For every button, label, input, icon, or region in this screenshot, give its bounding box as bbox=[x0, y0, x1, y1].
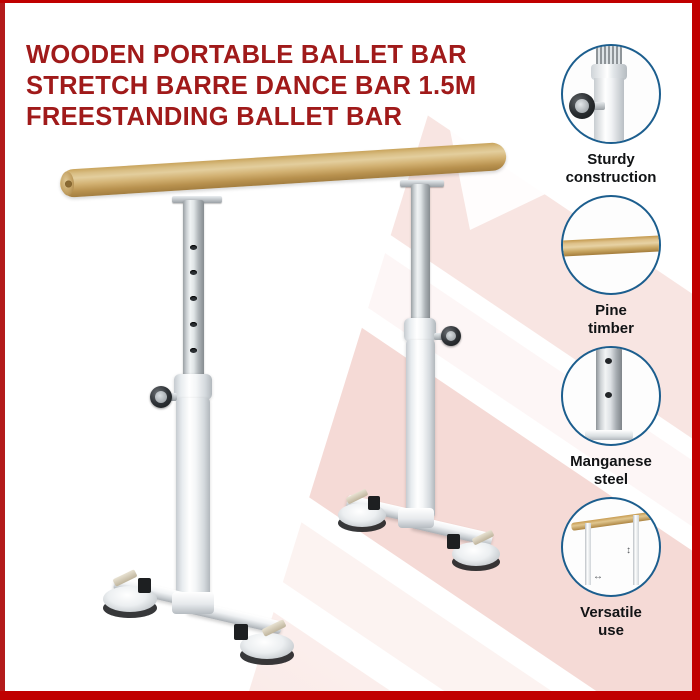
left-suction-cup bbox=[240, 633, 294, 659]
feature-callout-list: Sturdy construction Pine timber Man bbox=[536, 44, 686, 648]
right-chrome-tube bbox=[411, 184, 430, 324]
left-adjust-hole bbox=[190, 296, 197, 301]
up-down-arrow-icon: ↕ bbox=[626, 545, 631, 556]
border-top bbox=[0, 0, 700, 3]
left-collar bbox=[174, 374, 212, 400]
feature-sturdy-construction: Sturdy construction bbox=[536, 44, 686, 186]
steel-hole-icon bbox=[605, 358, 612, 364]
feature-versatile-use: ↔ ↕ Versatile use bbox=[536, 497, 686, 639]
left-outer-tube bbox=[176, 398, 210, 606]
title-line-1: Wooden Portable Ballet Bar bbox=[26, 40, 496, 71]
steel-hole-icon bbox=[605, 392, 612, 398]
left-cup-tab bbox=[138, 578, 151, 593]
mini-barre-left-leg-icon bbox=[585, 523, 591, 585]
mini-barre-right-leg-icon bbox=[633, 515, 639, 585]
feature-pine-timber: Pine timber bbox=[536, 195, 686, 337]
knob-core-icon bbox=[575, 99, 589, 113]
left-adjust-hole bbox=[190, 270, 197, 275]
feature-label-line-2: timber bbox=[536, 320, 686, 338]
left-cup-tab bbox=[234, 624, 248, 640]
steel-base-icon bbox=[585, 430, 633, 440]
right-cup-tab bbox=[447, 534, 460, 549]
wooden-barre bbox=[59, 142, 507, 198]
feature-manganese-steel: Manganese steel bbox=[536, 346, 686, 488]
feature-label-line-1: Manganese bbox=[536, 453, 686, 471]
steel-tube-icon bbox=[561, 346, 661, 446]
feature-label-line-2: use bbox=[536, 622, 686, 640]
left-knob-core bbox=[155, 391, 167, 403]
feature-label-line-1: Sturdy bbox=[536, 151, 686, 169]
left-locking-knob[interactable] bbox=[150, 386, 172, 408]
barre-end-cap bbox=[60, 171, 74, 196]
barre-end-screw bbox=[64, 180, 71, 187]
feature-label: Versatile use bbox=[536, 604, 686, 639]
chrome-top-icon bbox=[596, 44, 622, 66]
left-foot-hub bbox=[172, 592, 214, 614]
page-title: Wooden Portable Ballet Bar Stretch Barre… bbox=[26, 40, 496, 133]
up-down-arrow-icon: ↔ bbox=[593, 571, 603, 582]
feature-label-line-2: steel bbox=[536, 471, 686, 489]
feature-label-line-1: Versatile bbox=[536, 604, 686, 622]
feature-label: Sturdy construction bbox=[536, 151, 686, 186]
right-collar bbox=[404, 318, 436, 342]
border-bottom bbox=[0, 691, 700, 700]
pine-bar-icon bbox=[561, 235, 661, 257]
feature-label-line-1: Pine bbox=[536, 302, 686, 320]
right-knob-core bbox=[446, 331, 456, 341]
right-foot-hub bbox=[398, 508, 434, 528]
title-line-2: Stretch Barre Dance Bar 1.5m bbox=[26, 71, 496, 102]
right-cup-tab bbox=[368, 496, 380, 510]
right-outer-tube bbox=[406, 340, 435, 518]
mini-barre-bar-icon bbox=[571, 511, 657, 531]
right-locking-knob[interactable] bbox=[441, 326, 461, 346]
adjustable-barre-icon: ↔ ↕ bbox=[561, 497, 661, 597]
border-left bbox=[0, 0, 5, 700]
left-adjust-hole bbox=[190, 322, 197, 327]
left-chrome-tube bbox=[183, 200, 204, 382]
border-right bbox=[692, 0, 700, 700]
product-promo-banner: Wooden Portable Ballet Bar Stretch Barre… bbox=[0, 0, 700, 700]
tube-with-locking-knob-icon bbox=[561, 44, 661, 144]
wooden-bar-icon bbox=[561, 195, 661, 295]
white-tube-icon bbox=[594, 78, 624, 144]
left-adjust-hole bbox=[190, 348, 197, 353]
feature-label: Manganese steel bbox=[536, 453, 686, 488]
feature-label: Pine timber bbox=[536, 302, 686, 337]
feature-label-line-2: construction bbox=[536, 169, 686, 187]
title-line-3: Freestanding Ballet Bar bbox=[26, 102, 496, 133]
left-adjust-hole bbox=[190, 245, 197, 250]
